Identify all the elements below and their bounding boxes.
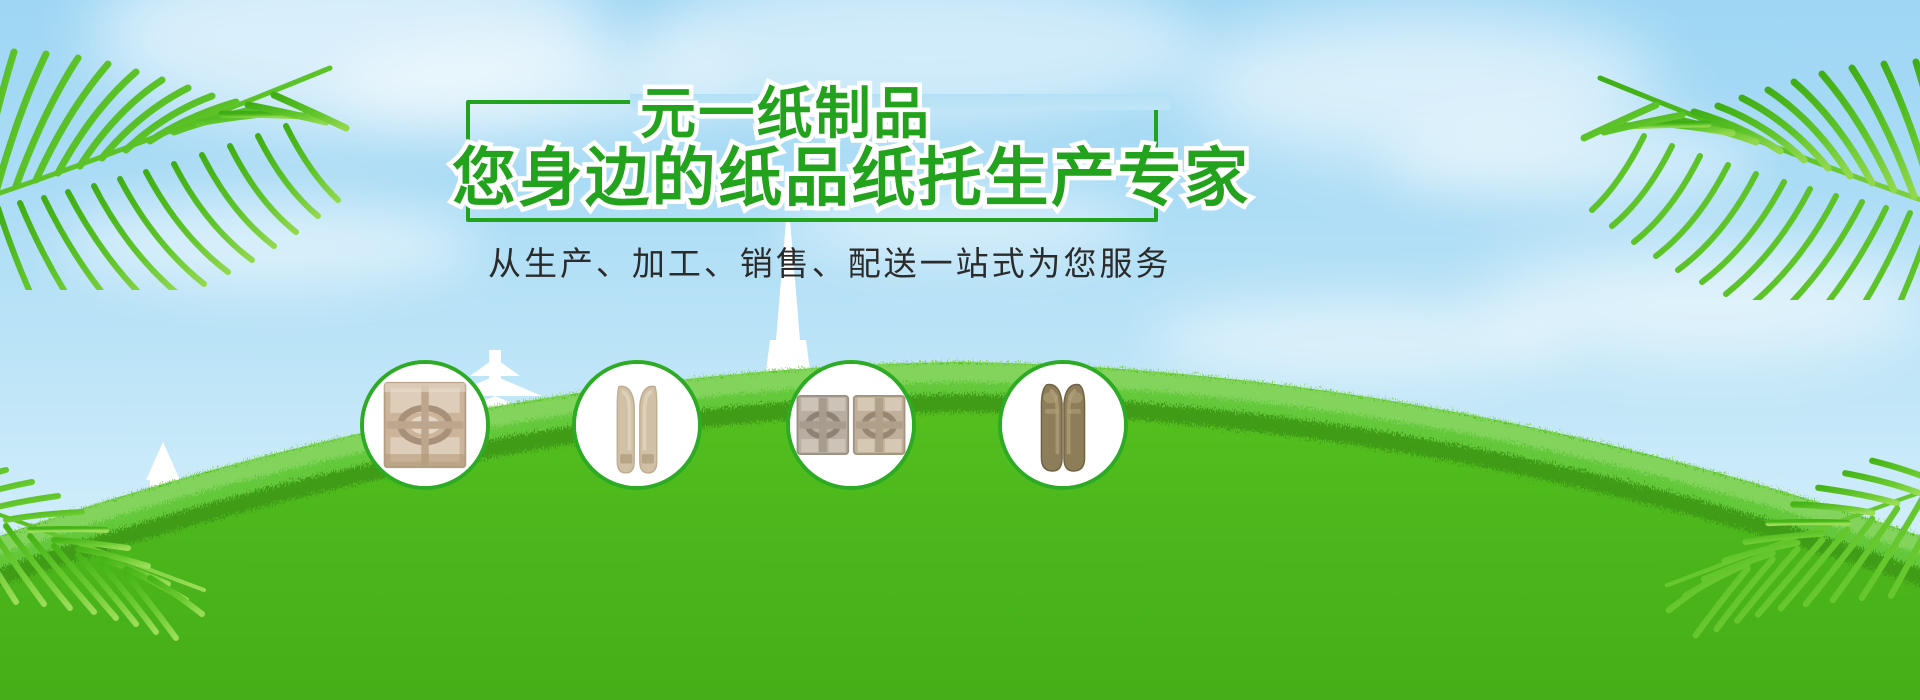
palm-frond-bottom-left	[0, 450, 240, 700]
palm-frond-top-left	[0, 0, 390, 290]
paper-pulp-tray-icon	[364, 364, 486, 486]
headline-primary: 元一纸制品	[640, 85, 931, 145]
paper-pulp-shoe-last-icon	[1002, 364, 1124, 486]
paper-pulp-insert-pair-icon	[790, 364, 912, 486]
headline-secondary: 您身边的纸品纸托生产专家	[452, 144, 1251, 214]
palm-frond-bottom-right	[1620, 440, 1920, 700]
product-circle-2[interactable]	[572, 360, 702, 490]
product-circle-3[interactable]	[786, 360, 916, 490]
promo-banner: 元一纸制品 您身边的纸品纸托生产专家 从生产、加工、销售、配送一站式为您服务	[0, 0, 1920, 700]
product-circle-1[interactable]	[360, 360, 490, 490]
product-circle-4[interactable]	[998, 360, 1128, 490]
paper-pulp-shoe-tree-icon	[576, 364, 698, 486]
subtitle-text: 从生产、加工、销售、配送一站式为您服务	[488, 237, 1171, 285]
palm-frond-top-right	[1540, 0, 1920, 300]
